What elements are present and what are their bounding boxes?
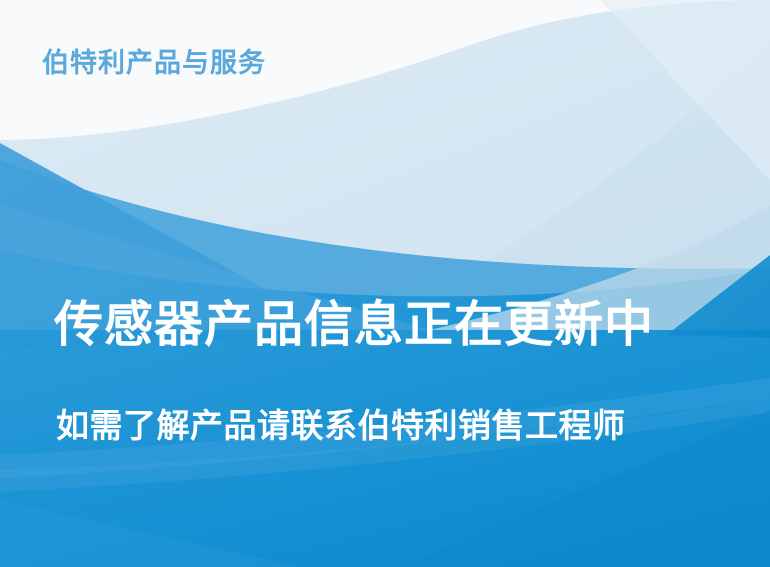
- brand-title: 伯特利产品与服务: [42, 48, 266, 80]
- banner-text-layer: 伯特利产品与服务 传感器产品信息正在更新中 如需了解产品请联系伯特利销售工程师: [0, 0, 770, 567]
- subheadline-text: 如需了解产品请联系伯特利销售工程师: [56, 407, 626, 445]
- promo-banner: 伯特利产品与服务 传感器产品信息正在更新中 如需了解产品请联系伯特利销售工程师: [0, 0, 770, 567]
- headline-text: 传感器产品信息正在更新中: [54, 298, 654, 352]
